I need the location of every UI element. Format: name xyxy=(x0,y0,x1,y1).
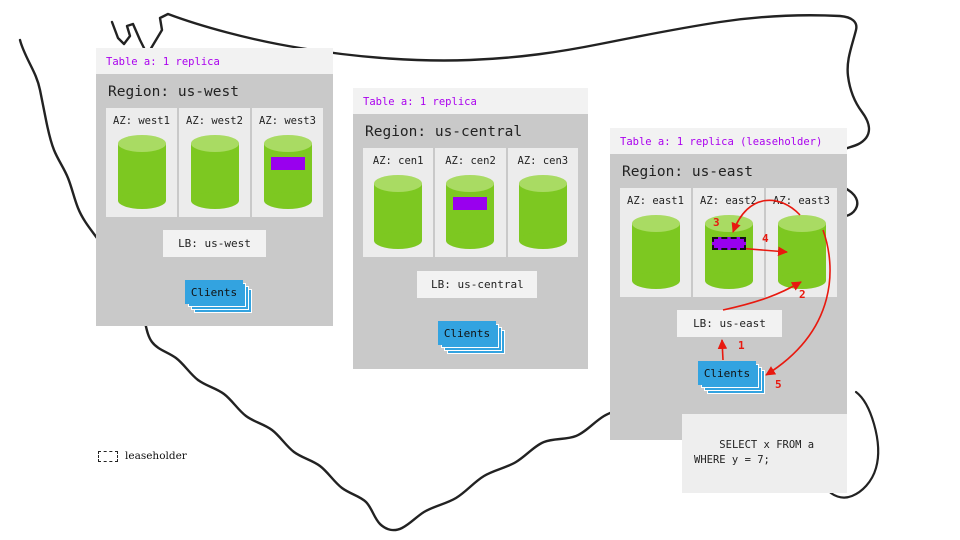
cylinder-cen3[interactable] xyxy=(519,175,567,247)
cylinder-top xyxy=(191,135,239,152)
region-title: Region: us-west xyxy=(96,74,333,108)
az-card-east1[interactable]: AZ: east1 xyxy=(620,188,691,297)
region-panel-us-central: Table a: 1 replica Region: us-central AZ… xyxy=(353,88,588,369)
region-header-text: Table a: 1 replica (leaseholder) xyxy=(620,136,822,148)
legend: leaseholder xyxy=(98,450,187,462)
clients-us-east[interactable]: Clients xyxy=(698,361,762,387)
region-header-us-east: Table a: 1 replica (leaseholder) xyxy=(610,128,847,154)
cylinder-bottom xyxy=(632,272,680,289)
az-label: AZ: cen3 xyxy=(518,155,569,167)
clients-label: Clients xyxy=(438,321,496,345)
step-number-3: 3 xyxy=(713,216,720,229)
az-card-cen3[interactable]: AZ: cen3 xyxy=(508,148,578,257)
lb-label: LB: us-west xyxy=(178,237,251,250)
region-header-text: Table a: 1 replica xyxy=(363,96,477,108)
region-header-us-west: Table a: 1 replica xyxy=(96,48,333,74)
az-label: AZ: cen1 xyxy=(373,155,424,167)
cylinder-top xyxy=(519,175,567,192)
az-label: AZ: east1 xyxy=(627,195,684,207)
region-header-text: Table a: 1 replica xyxy=(106,56,220,68)
az-card-east2[interactable]: AZ: east2 xyxy=(693,188,764,297)
az-label: AZ: west2 xyxy=(186,115,243,127)
cylinder-west3[interactable] xyxy=(264,135,312,207)
az-row-us-east: AZ: east1 AZ: east2 xyxy=(610,188,847,297)
step-number-4: 4 xyxy=(762,232,769,245)
leaseholder-badge-east2 xyxy=(712,237,746,250)
sql-query-note: SELECT x FROM a WHERE y = 7; xyxy=(682,414,847,493)
region-header-us-central: Table a: 1 replica xyxy=(353,88,588,114)
az-label: AZ: east3 xyxy=(773,195,830,207)
az-card-east3[interactable]: AZ: east3 xyxy=(766,188,837,297)
az-row-us-west: AZ: west1 AZ: west2 xyxy=(96,108,333,217)
lb-label: LB: us-east xyxy=(693,317,766,330)
cylinder-east3[interactable] xyxy=(778,215,826,287)
az-card-west1[interactable]: AZ: west1 xyxy=(106,108,177,217)
cylinder-east1[interactable] xyxy=(632,215,680,287)
cylinder-bottom xyxy=(264,192,312,209)
legend-label: leaseholder xyxy=(125,450,187,462)
cylinder-top xyxy=(264,135,312,152)
clients-label: Clients xyxy=(698,361,756,385)
cylinder-bottom xyxy=(118,192,166,209)
cylinder-cen1[interactable] xyxy=(374,175,422,247)
lb-label: LB: us-central xyxy=(431,278,524,291)
cylinder-bottom xyxy=(778,272,826,289)
clients-us-west[interactable]: Clients xyxy=(185,280,249,306)
cylinder-east2[interactable] xyxy=(705,215,753,287)
load-balancer-us-west[interactable]: LB: us-west xyxy=(163,230,266,257)
cylinder-top xyxy=(705,215,753,232)
az-row-us-central: AZ: cen1 AZ: cen2 xyxy=(353,148,588,257)
region-title: Region: us-east xyxy=(610,154,847,188)
region-panel-us-west: Table a: 1 replica Region: us-west AZ: w… xyxy=(96,48,333,326)
step-number-2: 2 xyxy=(799,288,806,301)
az-label: AZ: east2 xyxy=(700,195,757,207)
step-number-5: 5 xyxy=(775,378,782,391)
step-number-1: 1 xyxy=(738,339,745,352)
region-body-us-east: Region: us-east AZ: east1 AZ: east2 xyxy=(610,154,847,440)
cylinder-top xyxy=(118,135,166,152)
cylinder-top xyxy=(778,215,826,232)
diagram-canvas: Table a: 1 replica Region: us-west AZ: w… xyxy=(0,0,960,540)
cylinder-bottom xyxy=(191,192,239,209)
replica-badge-west3 xyxy=(271,157,305,170)
az-label: AZ: west1 xyxy=(113,115,170,127)
cylinder-bottom xyxy=(705,272,753,289)
cylinder-top xyxy=(374,175,422,192)
az-card-west3[interactable]: AZ: west3 xyxy=(252,108,323,217)
sql-query-text: SELECT x FROM a WHERE y = 7; xyxy=(694,439,814,466)
cylinder-west1[interactable] xyxy=(118,135,166,207)
load-balancer-us-central[interactable]: LB: us-central xyxy=(417,271,537,298)
cylinder-bottom xyxy=(446,232,494,249)
cylinder-bottom xyxy=(519,232,567,249)
cylinder-bottom xyxy=(374,232,422,249)
dashed-rect-icon xyxy=(98,451,118,462)
az-card-west2[interactable]: AZ: west2 xyxy=(179,108,250,217)
region-panel-us-east: Table a: 1 replica (leaseholder) Region:… xyxy=(610,128,847,440)
cylinder-top xyxy=(632,215,680,232)
cylinder-west2[interactable] xyxy=(191,135,239,207)
clients-label: Clients xyxy=(185,280,243,304)
load-balancer-us-east[interactable]: LB: us-east xyxy=(677,310,782,337)
az-label: AZ: cen2 xyxy=(445,155,496,167)
cylinder-cen2[interactable] xyxy=(446,175,494,247)
az-card-cen2[interactable]: AZ: cen2 xyxy=(435,148,505,257)
replica-badge-cen2 xyxy=(453,197,487,210)
az-card-cen1[interactable]: AZ: cen1 xyxy=(363,148,433,257)
clients-us-central[interactable]: Clients xyxy=(438,321,502,347)
az-label: AZ: west3 xyxy=(259,115,316,127)
region-title: Region: us-central xyxy=(353,114,588,148)
